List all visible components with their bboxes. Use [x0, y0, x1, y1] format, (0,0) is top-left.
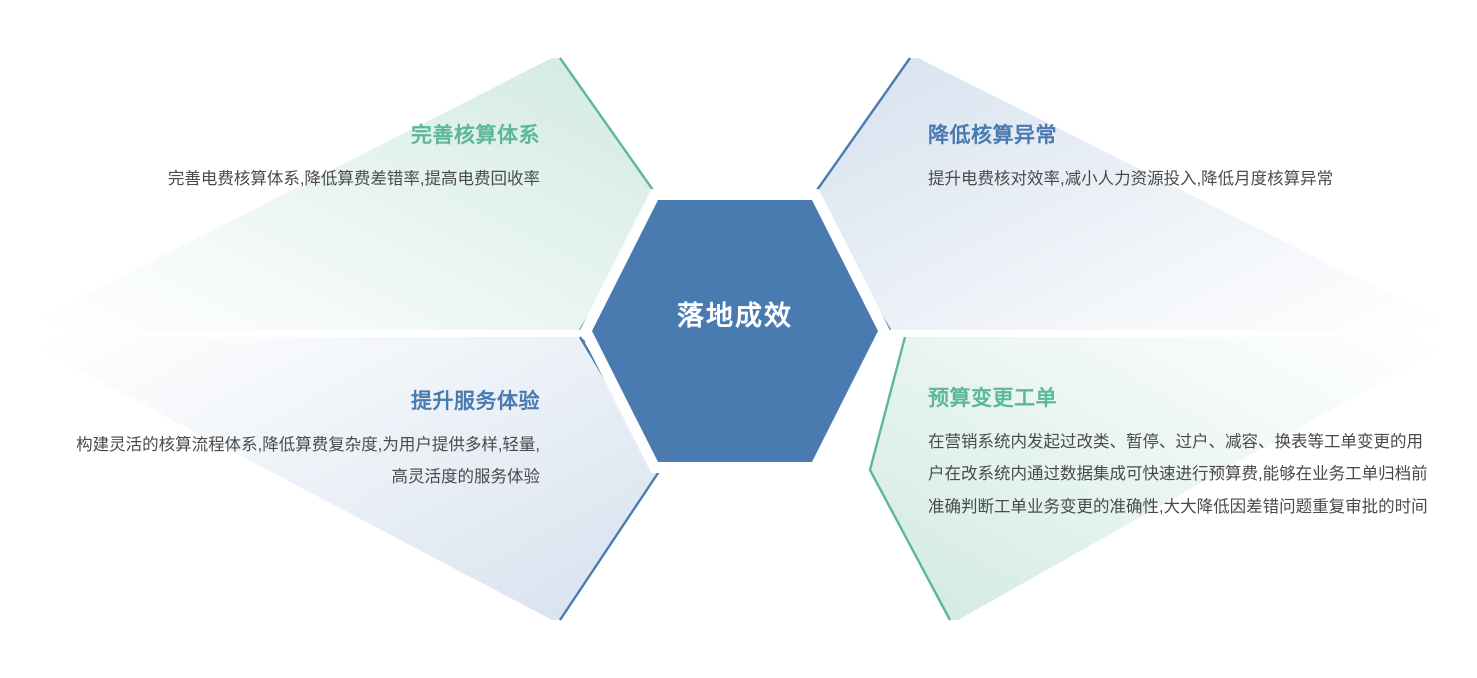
quadrant-bottom-left-title: 提升服务体验 — [60, 388, 540, 415]
quadrant-bottom-right-title: 预算变更工单 — [928, 385, 1428, 412]
center-hexagon-label: 落地成效 — [592, 300, 878, 332]
quadrant-top-left-body: 完善电费核算体系,降低算费差错率,提高电费回收率 — [60, 163, 540, 195]
quadrant-top-right-title: 降低核算异常 — [928, 122, 1428, 149]
quadrant-bottom-left: 提升服务体验 构建灵活的核算流程体系,降低算费复杂度,为用户提供多样,轻量,高灵… — [60, 388, 540, 494]
quadrant-top-right-body: 提升电费核对效率,减小人力资源投入,降低月度核算异常 — [928, 163, 1428, 195]
diagram-artwork — [0, 0, 1477, 678]
quadrant-bottom-left-body: 构建灵活的核算流程体系,降低算费复杂度,为用户提供多样,轻量,高灵活度的服务体验 — [60, 429, 540, 493]
quadrant-bottom-right: 预算变更工单 在营销系统内发起过改类、暂停、过户、减容、换表等工单变更的用户在改… — [928, 385, 1428, 523]
quadrant-bottom-right-body: 在营销系统内发起过改类、暂停、过户、减容、换表等工单变更的用户在改系统内通过数据… — [928, 426, 1428, 523]
quadrant-top-left: 完善核算体系 完善电费核算体系,降低算费差错率,提高电费回收率 — [60, 122, 540, 195]
quadrant-top-left-title: 完善核算体系 — [60, 122, 540, 149]
quadrant-top-right: 降低核算异常 提升电费核对效率,减小人力资源投入,降低月度核算异常 — [928, 122, 1428, 195]
diagram-canvas: 落地成效 完善核算体系 完善电费核算体系,降低算费差错率,提高电费回收率 降低核… — [0, 0, 1477, 678]
